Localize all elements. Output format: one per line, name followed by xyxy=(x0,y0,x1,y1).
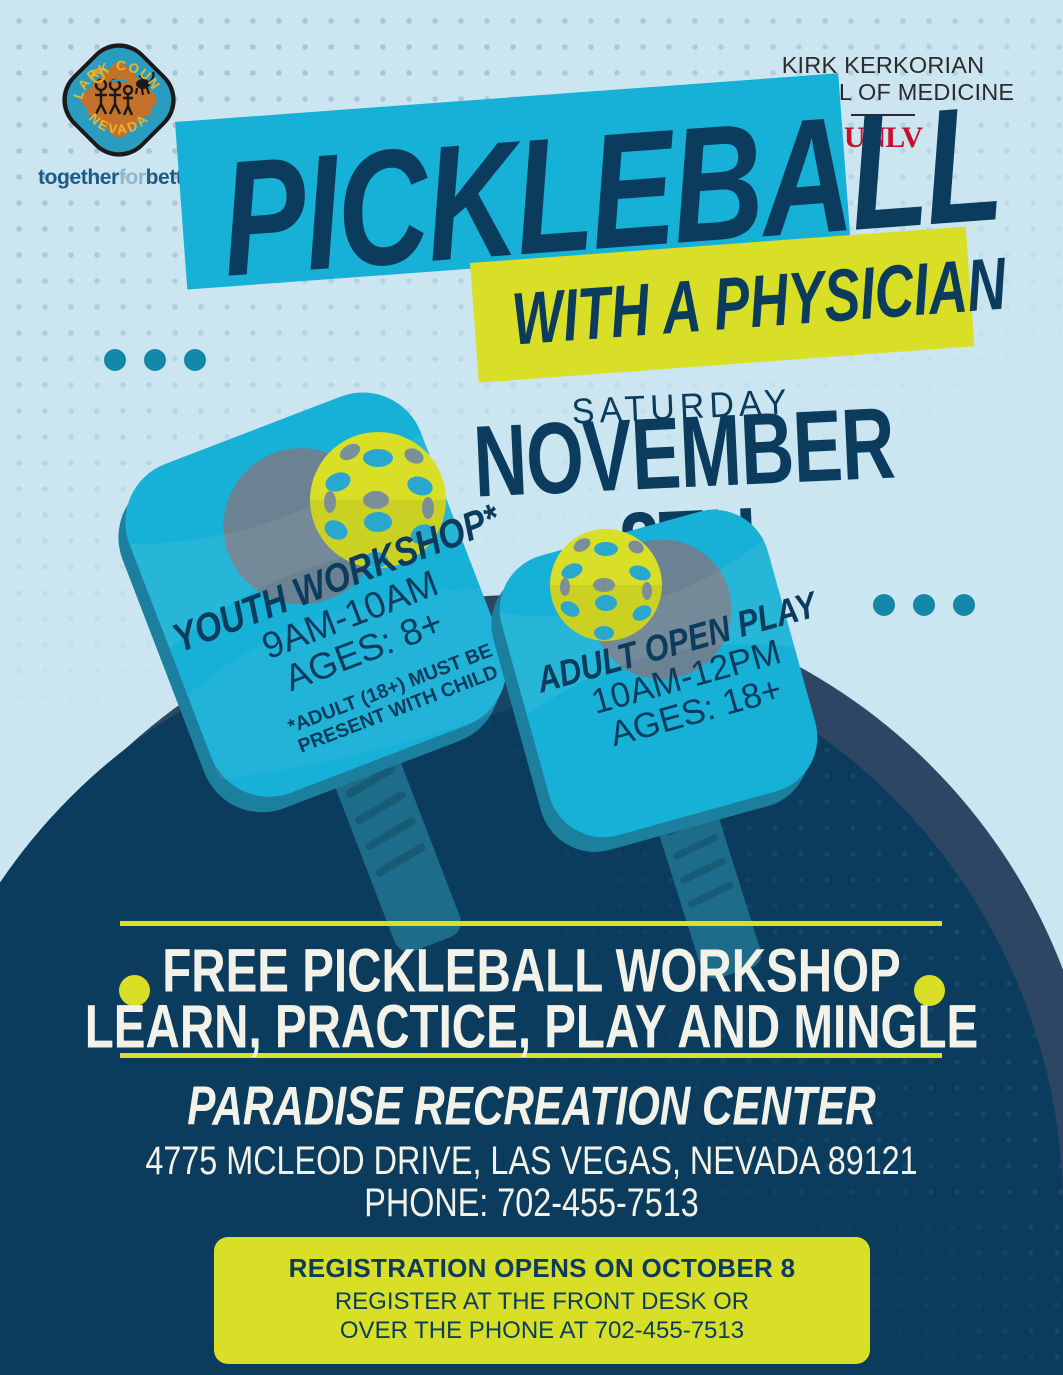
tagline-part-2: for xyxy=(119,166,146,189)
accent-dot xyxy=(953,594,975,616)
clark-county-logo: CLARK COUNTY NEVADA togetherforbetter xyxy=(38,38,200,190)
subtitle: WITH A PHYSICIAN xyxy=(509,240,1009,362)
accent-dot xyxy=(144,349,166,371)
event-headline: FREE PICKLEBALL WORKSHOP LEARN, PRACTICE… xyxy=(0,945,1063,1057)
registration-box[interactable]: REGISTRATION OPENS ON OCTOBER 8 REGISTER… xyxy=(214,1237,870,1364)
accent-dot xyxy=(104,349,126,371)
county-tagline: togetherforbetter xyxy=(38,166,200,190)
venue-phone: PHONE: 702-455-7513 xyxy=(11,1178,1053,1229)
venue-name: PARADISE RECREATION CENTER xyxy=(21,1076,1041,1139)
tagline-part-1: together xyxy=(38,166,119,189)
event-flyer: CLARK COUNTY NEVADA togetherforbetter KI… xyxy=(0,0,1063,1375)
accent-dot xyxy=(184,349,206,371)
accent-dots-right xyxy=(873,594,975,616)
registration-title: REGISTRATION OPENS ON OCTOBER 8 xyxy=(224,1253,860,1284)
headline-rule-top xyxy=(120,921,942,926)
headline-line-2: LEARN, PRACTICE, PLAY AND MINGLE xyxy=(16,994,1047,1063)
registration-line-1: REGISTER AT THE FRONT DESK OR xyxy=(224,1287,860,1316)
venue-contact: 4775 MCLEOD DRIVE, LAS VEGAS, NEVADA 891… xyxy=(0,1140,1063,1224)
registration-line-2: OVER THE PHONE AT 702-455-7513 xyxy=(224,1316,860,1345)
accent-dot xyxy=(873,594,895,616)
accent-dots-left xyxy=(104,349,206,371)
accent-dot xyxy=(913,594,935,616)
clark-county-seal-icon: CLARK COUNTY NEVADA xyxy=(57,38,181,162)
